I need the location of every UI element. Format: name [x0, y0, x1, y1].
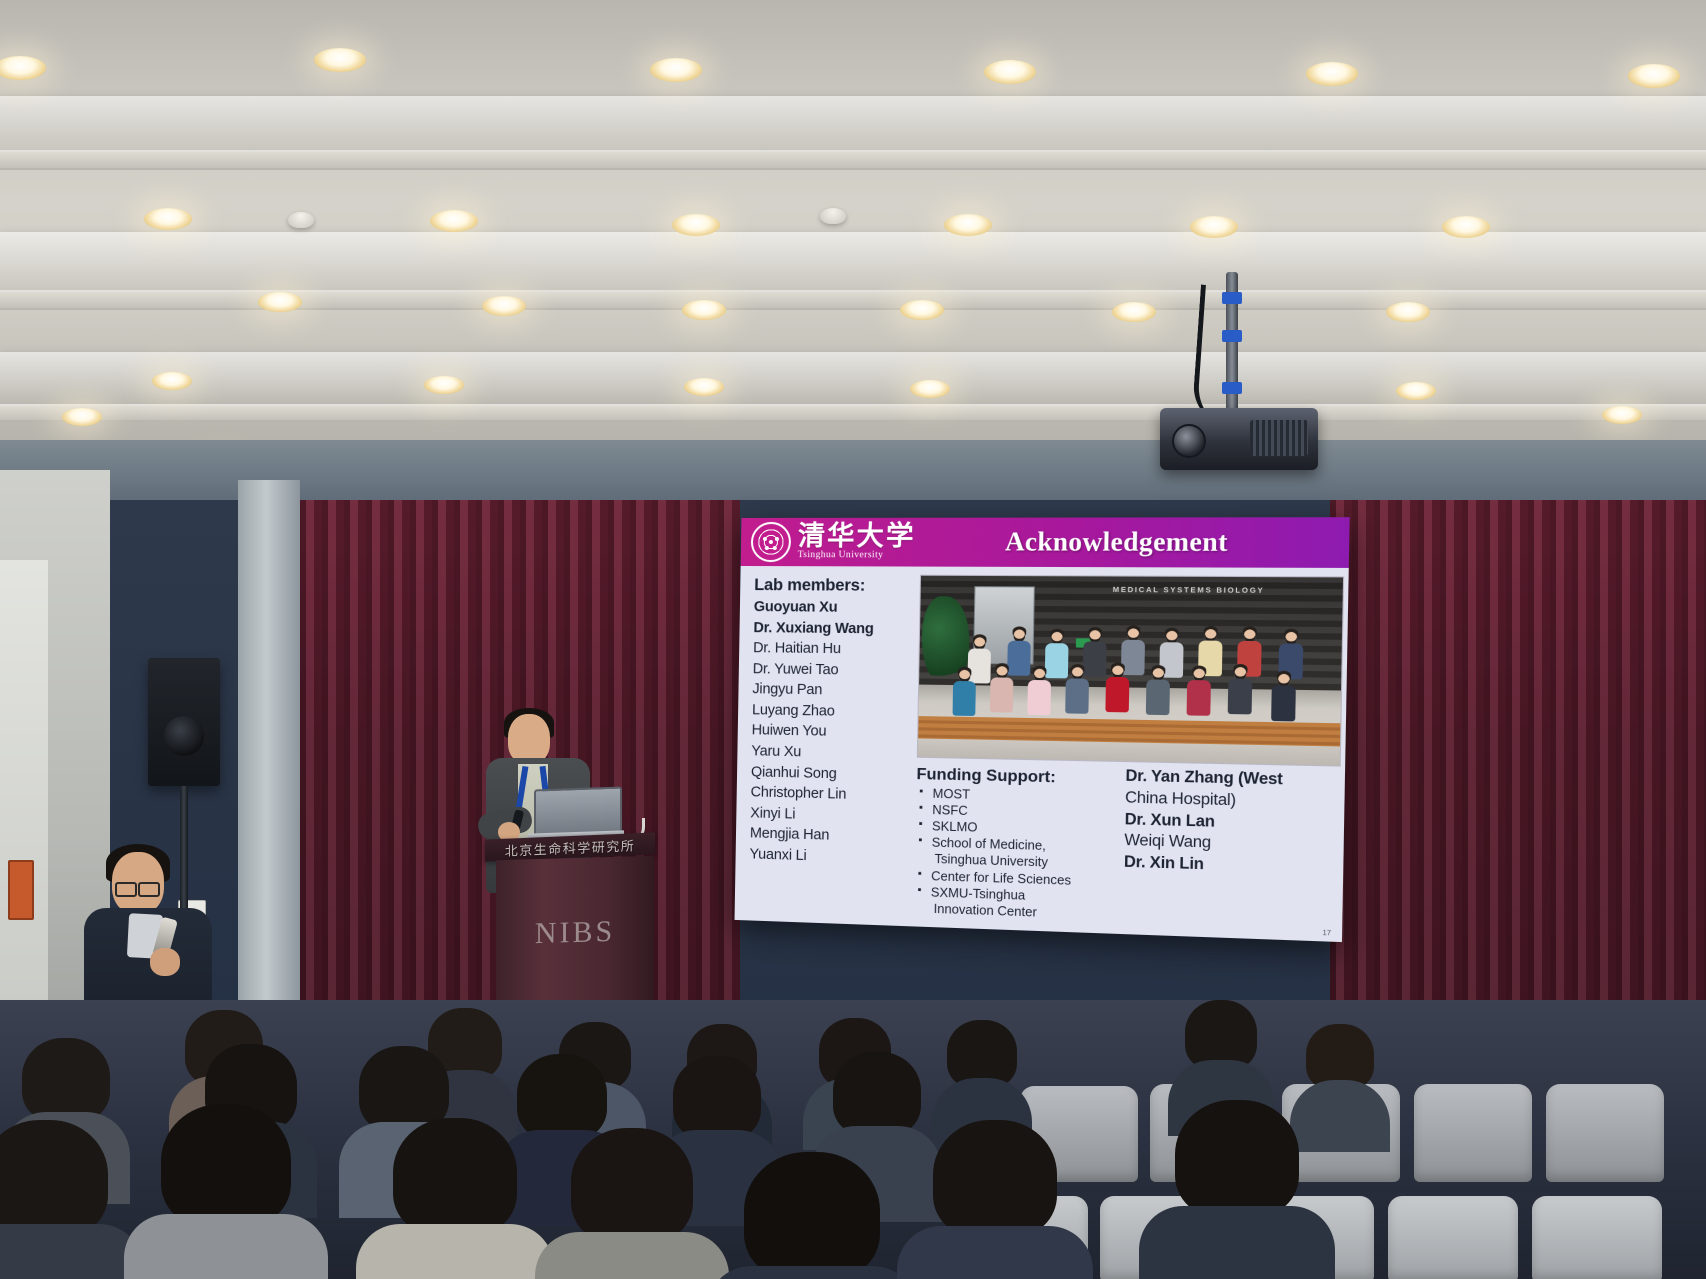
ceiling-light [900, 300, 944, 320]
lab-member-name: Dr. Xuxiang Wang [753, 618, 917, 640]
ceiling-light [944, 214, 992, 236]
slide-number: 17 [1322, 930, 1331, 938]
auditorium-chair [1546, 1084, 1664, 1182]
ceiling-light [1442, 216, 1490, 238]
moderator-hand [150, 948, 180, 976]
projector-cable [1191, 284, 1250, 427]
projector-lens-icon [1172, 424, 1206, 458]
ceiling-light [430, 210, 478, 232]
lab-member-name: Dr. Haitian Hu [753, 638, 917, 661]
podium: NIBS [496, 856, 654, 1022]
ceiling-light [984, 60, 1036, 84]
lab-member-name: Yuanxi Li [749, 844, 913, 870]
stage-curtain-right [1330, 500, 1706, 1020]
ceiling-light [910, 380, 950, 398]
audience-member [558, 1128, 706, 1279]
wall-pillar [238, 480, 300, 1080]
ceiling-light [152, 372, 192, 390]
tsinghua-logo-icon [751, 522, 792, 562]
audience-member [920, 1120, 1070, 1279]
audience-member [732, 1152, 892, 1279]
podium-institute-label: NIBS [496, 914, 654, 952]
ceiling-light [314, 48, 366, 72]
lab-member-name: Dr. Yuwei Tao [753, 659, 917, 682]
slide-header: 清华大学 Tsinghua University Acknowledgement [741, 517, 1350, 568]
projector-vent [1250, 420, 1308, 456]
auditorium-chair [1414, 1084, 1532, 1182]
ceiling-light [1306, 62, 1358, 86]
presenter-head [508, 714, 550, 764]
ceiling-projector [1160, 408, 1318, 470]
audience-member [380, 1118, 530, 1279]
fire-alarm-box [8, 860, 34, 920]
speaker-cone-icon [164, 716, 204, 756]
smoke-detector-icon [288, 212, 314, 228]
lecture-hall-photo: 清华大学 Tsinghua University Acknowledgement… [0, 0, 1706, 1279]
glasses-icon [138, 882, 160, 897]
tsinghua-name-cn: 清华大学 [798, 523, 916, 550]
lab-group-photo: MEDICAL SYSTEMS BIOLOGY [917, 575, 1344, 767]
ceiling-light [0, 56, 46, 80]
funding-list: MOST NSFC SKLMO School of Medicine, Tsin… [914, 785, 1121, 923]
ceiling-light [1386, 302, 1430, 322]
ceiling-light [1628, 64, 1680, 88]
ceiling-light [424, 376, 464, 394]
auditorium-chair [1388, 1196, 1518, 1279]
audience-area [0, 1000, 1706, 1279]
funding-support-column: Funding Support: MOST NSFC SKLMO School … [914, 766, 1121, 924]
audience-member [1162, 1100, 1312, 1279]
ceiling-light [1602, 406, 1642, 424]
slide: 清华大学 Tsinghua University Acknowledgement… [735, 517, 1350, 942]
ceiling-light [682, 300, 726, 320]
ceiling-light [650, 58, 702, 82]
ceiling-light [1396, 382, 1436, 400]
projection-screen: 清华大学 Tsinghua University Acknowledgement… [735, 517, 1350, 942]
audience-member [0, 1120, 120, 1279]
loudspeaker [148, 658, 220, 786]
ceiling-light [144, 208, 192, 230]
slide-body: Lab members: Guoyuan Xu Dr. Xuxiang Wang… [735, 566, 1349, 942]
ceiling-light [258, 292, 302, 312]
lab-member-name: Jingyu Pan [752, 680, 916, 703]
glasses-icon [115, 882, 137, 897]
lab-members-heading: Lab members: [754, 576, 918, 596]
smoke-detector-icon [820, 208, 846, 224]
lab-members-column: Lab members: Guoyuan Xu Dr. Xuxiang Wang… [749, 576, 918, 870]
collaborators-column: Dr. Yan Zhang (West China Hospital) Dr. … [1124, 766, 1343, 880]
slide-title: Acknowledgement [915, 527, 1349, 559]
audience-member [148, 1104, 304, 1279]
ceiling-light [1112, 302, 1156, 322]
tsinghua-name-en: Tsinghua University [798, 551, 916, 561]
photo-banner-text: MEDICAL SYSTEMS BIOLOGY [1113, 585, 1265, 595]
lab-member-name: Luyang Zhao [752, 700, 916, 724]
tsinghua-wordmark: 清华大学 Tsinghua University [798, 523, 916, 561]
ceiling [0, 0, 1706, 500]
ceiling-light [482, 296, 526, 316]
ceiling-light [672, 214, 720, 236]
auditorium-chair [1532, 1196, 1662, 1279]
ceiling-light [1190, 216, 1238, 238]
ceiling-light [684, 378, 724, 396]
lab-member-name: Guoyuan Xu [754, 597, 918, 619]
ceiling-light [62, 408, 102, 426]
